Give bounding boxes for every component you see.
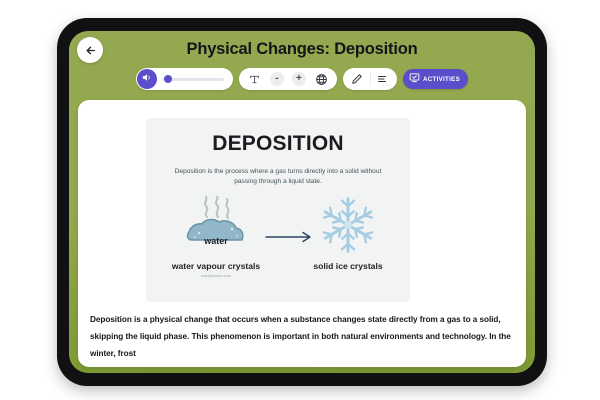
snowflake-icon	[318, 195, 378, 260]
slider-knob[interactable]	[164, 75, 172, 83]
water-vapour-caption: water vapour crystals	[164, 261, 268, 272]
lesson-paragraph: Deposition is a physical change that occ…	[90, 312, 514, 362]
increase-text-size-button[interactable]: +	[292, 72, 306, 86]
text-controls-group: - +	[239, 68, 337, 90]
deposition-poster: DEPOSITION Deposition is the process whe…	[146, 118, 410, 302]
water-vapour-group: water water vapour crystals workybooks.c…	[164, 196, 268, 278]
annotation-tools-group	[343, 68, 397, 90]
lesson-content-card: DEPOSITION Deposition is the process whe…	[78, 100, 526, 367]
speaker-volume-icon	[141, 70, 152, 88]
monitor-check-icon	[409, 70, 420, 88]
poster-subtitle: Deposition is the process where a gas tu…	[168, 167, 388, 187]
tablet-screen: Physical Changes: Deposition	[69, 31, 535, 373]
deposition-diagram: water water vapour crystals workybooks.c…	[146, 196, 410, 300]
activities-label: ACTIVITIES	[423, 76, 460, 83]
audio-controls-group	[136, 68, 233, 90]
snowflake-wrap	[296, 196, 400, 258]
toolbar-divider	[370, 72, 371, 86]
water-blob-wrap: water	[164, 196, 268, 258]
solid-ice-caption: solid ice crystals	[296, 261, 400, 272]
activities-button[interactable]: ACTIVITIES	[403, 69, 468, 89]
reader-toolbar: - +	[69, 67, 535, 91]
decrease-text-size-button[interactable]: -	[270, 72, 284, 86]
pen-icon[interactable]	[350, 72, 365, 87]
text-size-icon[interactable]	[247, 72, 262, 87]
screenshot-stage: Physical Changes: Deposition	[0, 0, 600, 400]
audio-progress-slider[interactable]	[162, 78, 224, 81]
globe-icon[interactable]	[314, 72, 329, 87]
page-title: Physical Changes: Deposition	[69, 40, 535, 59]
poster-watermark: workybooks.com	[164, 274, 268, 278]
play-audio-button[interactable]	[137, 69, 157, 89]
solid-ice-group: solid ice crystals	[296, 196, 400, 272]
app-header: Physical Changes: Deposition	[69, 31, 535, 69]
water-vapour-blob-icon	[164, 196, 268, 256]
water-shape-label: water	[164, 236, 268, 246]
tablet-device-frame: Physical Changes: Deposition	[57, 18, 547, 386]
list-icon[interactable]	[375, 72, 390, 87]
poster-title: DEPOSITION	[146, 132, 410, 156]
